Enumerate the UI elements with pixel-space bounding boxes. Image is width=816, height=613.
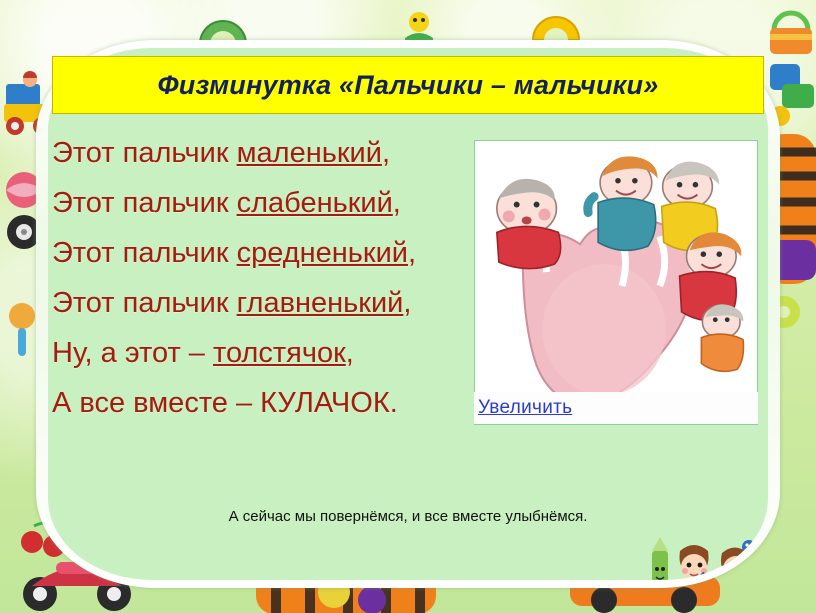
poem-line-emphasis: толстячок [213, 337, 346, 369]
poem-line-post: , [403, 287, 411, 319]
poem-text-block: Этот пальчик маленький, Этот пальчик сла… [52, 128, 522, 428]
poem-line-post: , [382, 137, 390, 169]
poem-line-pre: Этот пальчик [52, 137, 237, 169]
page-title: Физминутка «Пальчики – мальчики» [158, 70, 659, 101]
poem-line-pre: А все вместе – [52, 387, 260, 419]
slide: А сейчас мы повернёмся, и все вместе улы… [0, 0, 816, 613]
poem-line-emphasis: маленький [237, 137, 382, 169]
poem-line-post: КУЛАЧОК. [260, 387, 398, 419]
hand-puppets-drawing-icon [475, 141, 757, 424]
zoom-link-strip[interactable]: Увеличить [474, 392, 758, 424]
poem-line: Ну, а этот – толстячок, [52, 328, 522, 378]
poem-line-post: , [346, 337, 354, 369]
poem-line-post: , [408, 237, 416, 269]
poem-line: Этот пальчик средненький, [52, 228, 522, 278]
bottom-caption: А сейчас мы повернёмся, и все вместе улы… [48, 508, 768, 525]
toy-yellow-arch-icon [530, 8, 582, 42]
poem-line: А все вместе – КУЛАЧОК. [52, 378, 522, 428]
poem-line-pre: Этот пальчик [52, 237, 237, 269]
finger-puppets-image-card[interactable] [474, 140, 758, 425]
poem-line-emphasis: слабенький [237, 187, 393, 219]
zoom-link[interactable]: Увеличить [474, 397, 572, 419]
title-banner: Физминутка «Пальчики – мальчики» [52, 56, 764, 114]
toy-yellow-bird-icon [400, 8, 438, 44]
poem-line-pre: Этот пальчик [52, 187, 237, 219]
poem-line: Этот пальчик слабенький, [52, 178, 522, 228]
poem-line-post: , [393, 187, 401, 219]
poem-line-emphasis: главненький [237, 287, 404, 319]
poem-line-emphasis: средненький [237, 237, 408, 269]
poem-line: Этот пальчик главненький, [52, 278, 522, 328]
poem-line-pre: Этот пальчик [52, 287, 237, 319]
toy-basket-icon [766, 4, 816, 64]
poem-line-pre: Ну, а этот – [52, 337, 213, 369]
poem-line: Этот пальчик маленький, [52, 128, 522, 178]
kids-reading-clipart-icon [648, 533, 768, 580]
